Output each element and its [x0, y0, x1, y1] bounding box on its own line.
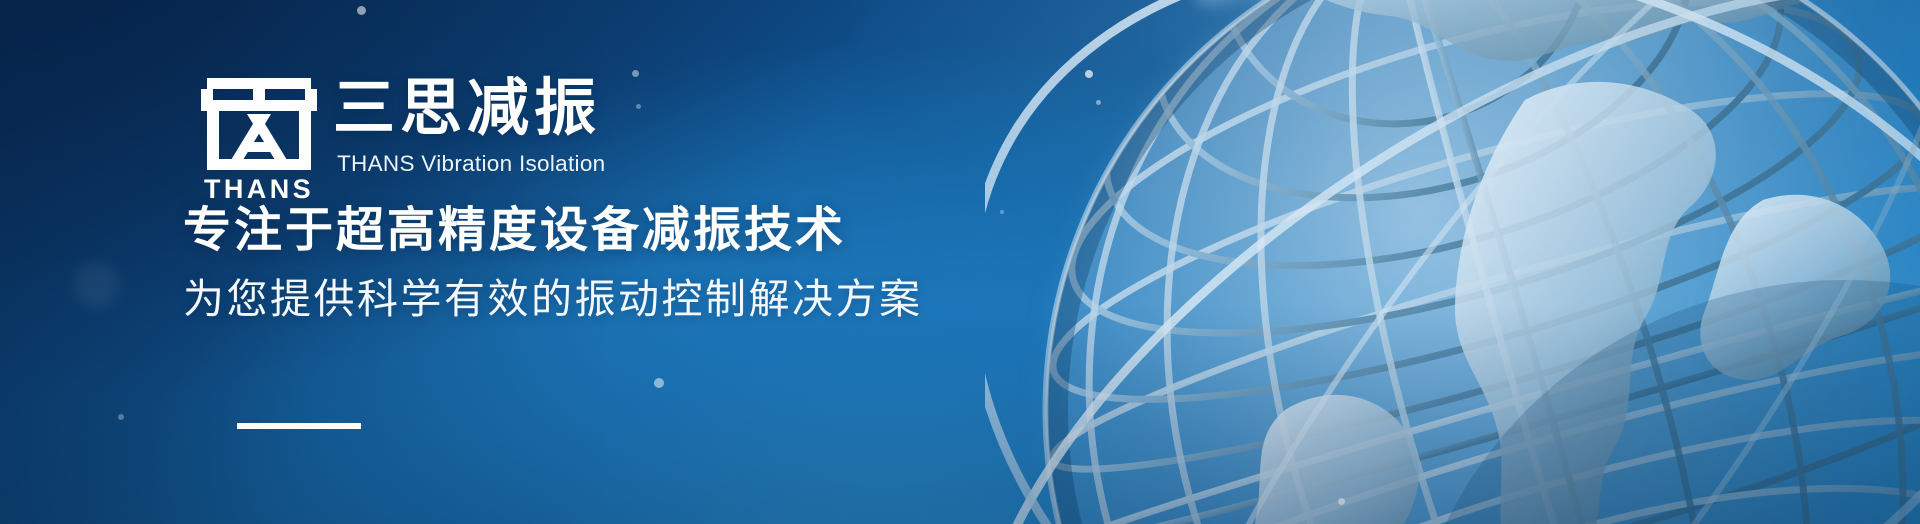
hero-accent-bar [237, 423, 361, 429]
brand-chinese-name: 三思减振 [333, 74, 601, 142]
hero-headline: 专注于超高精度设备减振技术 [183, 202, 846, 260]
bokeh-dot [1000, 210, 1004, 214]
brand-english-tagline: THANS Vibration Isolation [337, 150, 605, 177]
hero-banner: THANS 三思减振 THANS Vibration Isolation 专注于… [0, 0, 1920, 524]
bokeh-dot [1338, 498, 1345, 505]
thans-monogram-icon [199, 74, 319, 174]
bokeh-dot [1096, 100, 1101, 105]
hero-subheadline: 为您提供科学有效的振动控制解决方案 [183, 275, 923, 324]
thans-wordmark: THANS [185, 176, 333, 203]
hero-content: THANS 三思减振 THANS Vibration Isolation 专注于… [0, 0, 1000, 524]
bokeh-dot [1085, 70, 1093, 78]
brand-lockup: THANS 三思减振 THANS Vibration Isolation [185, 70, 825, 186]
